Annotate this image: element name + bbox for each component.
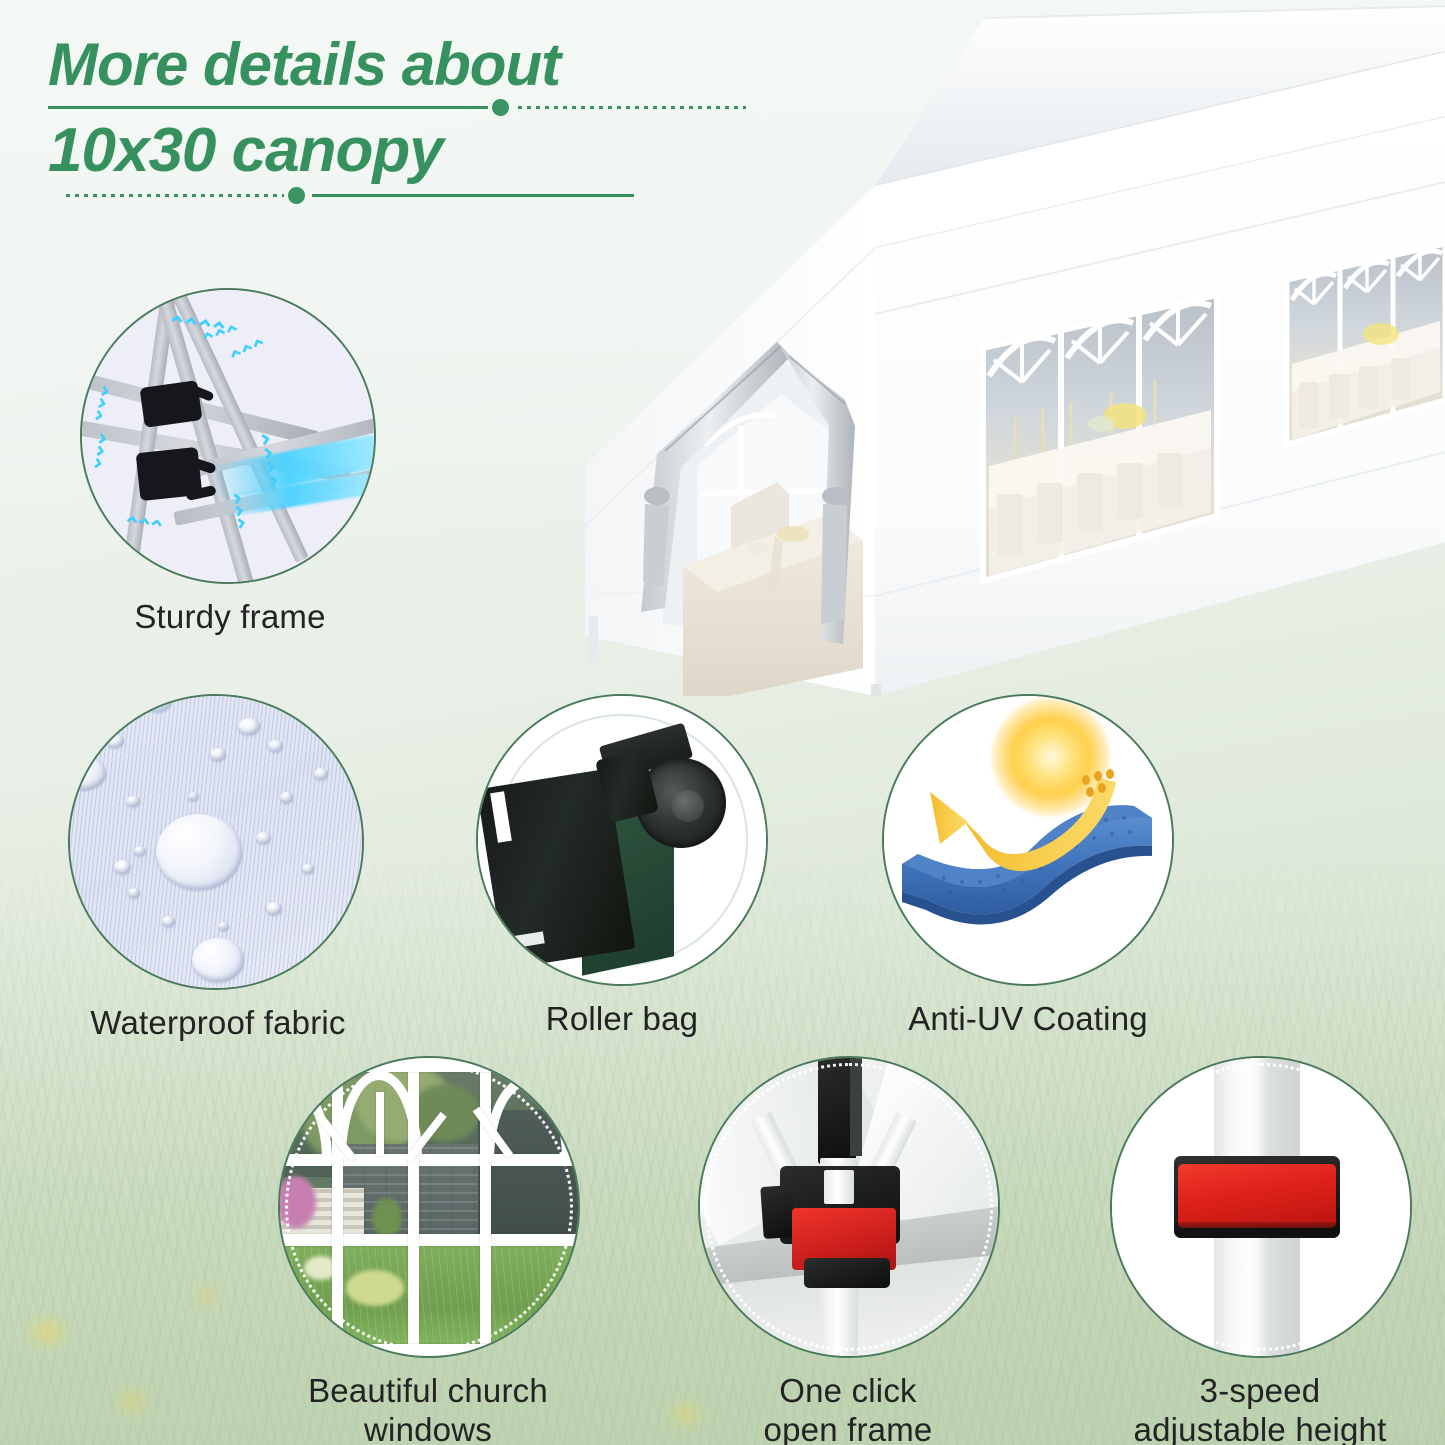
adjustable-height-label: 3-speed adjustable height — [1110, 1372, 1410, 1445]
church-windows-label: Beautiful church windows — [278, 1372, 578, 1445]
window-mullion-vertical — [332, 1058, 343, 1356]
water-droplet — [266, 902, 282, 915]
frame-bracket-base — [804, 1258, 890, 1288]
water-droplet — [210, 748, 226, 761]
church-windows-label-line-1: Beautiful church — [278, 1372, 578, 1411]
one-click-frame-label: One click open frame — [698, 1372, 998, 1445]
waterproof-fabric-art — [70, 696, 362, 988]
divider-dot — [288, 187, 305, 204]
church-windows-art — [280, 1058, 578, 1356]
anti-uv-label: Anti-UV Coating — [882, 1000, 1174, 1039]
height-adjust-collar-shadow — [1174, 1222, 1340, 1238]
church-windows-circle-image — [278, 1056, 580, 1358]
feature-roller-bag: Roller bag — [476, 694, 768, 1039]
adjustable-height-circle-image — [1110, 1056, 1412, 1358]
divider-dotted-segment — [66, 194, 284, 197]
frame-chevron-arrows: ⌃⌃⌃ — [80, 426, 111, 467]
sturdy-frame-circle-image: ⌃⌃⌃⌃ ⌃⌃⌃ ⌃⌃⌃ ⌃⌃⌃ ⌃⌃⌃ ⌃⌃⌃⌃ ⌃⌃⌃ ⌃⌃⌃ — [80, 288, 376, 584]
adjustable-height-art — [1112, 1058, 1410, 1356]
sturdy-frame-label: Sturdy frame — [80, 598, 380, 637]
background-dandelion — [672, 1404, 700, 1424]
background-dandelion — [30, 1320, 64, 1344]
water-droplet — [126, 796, 140, 807]
feature-3-speed-adjustable-height: 3-speed adjustable height — [1110, 1056, 1410, 1445]
canopy-tent-illustration — [545, 0, 1445, 696]
anti-uv-diagram — [884, 696, 1172, 984]
infographic-canvas: More details about 10x30 canopy — [0, 0, 1445, 1445]
frame-chevron-arrows: ⌃⌃⌃ — [217, 489, 249, 530]
water-droplet — [188, 792, 199, 801]
background-dandelion — [196, 1288, 218, 1304]
window-frame-bottom — [280, 1344, 578, 1356]
window-shrub — [372, 1198, 402, 1238]
roller-bag-art — [478, 696, 766, 984]
feature-anti-uv-coating: Anti-UV Coating — [882, 694, 1174, 1039]
water-droplet — [192, 938, 244, 982]
window-mullion-vertical — [480, 1058, 491, 1356]
water-droplet — [218, 922, 229, 931]
divider-dot — [492, 99, 509, 116]
feature-church-windows: Beautiful church windows — [278, 1056, 578, 1445]
feature-waterproof-fabric: Waterproof fabric — [68, 694, 368, 1043]
waterproof-fabric-circle-image — [68, 694, 364, 990]
hero-canopy-tent-image — [545, 0, 1445, 696]
roller-bag-circle-image — [476, 694, 768, 986]
background-dandelion — [120, 1392, 146, 1410]
window-mullion-horizontal — [280, 1234, 578, 1246]
church-windows-label-line-2: windows — [278, 1411, 578, 1445]
adjustable-height-label-line-2: adjustable height — [1110, 1411, 1410, 1445]
water-droplet — [302, 864, 314, 874]
window-tree — [410, 1084, 480, 1142]
anti-uv-circle-image — [882, 694, 1174, 986]
roller-bag-label: Roller bag — [476, 1000, 768, 1039]
window-frame-top — [280, 1058, 578, 1072]
window-arch-spoke — [376, 1092, 384, 1156]
water-droplet — [280, 792, 293, 803]
sturdy-frame-art: ⌃⌃⌃⌃ ⌃⌃⌃ ⌃⌃⌃ ⌃⌃⌃ ⌃⌃⌃ ⌃⌃⌃⌃ ⌃⌃⌃ ⌃⌃⌃ — [82, 290, 374, 582]
frame-chevron-arrows: ⌃⌃⌃ — [120, 512, 161, 543]
water-droplet — [238, 718, 260, 735]
one-click-frame-art — [700, 1058, 998, 1356]
height-adjust-collar-button[interactable] — [1178, 1164, 1336, 1228]
window-flowering-shrub — [346, 1270, 404, 1306]
feature-sturdy-frame: ⌃⌃⌃⌃ ⌃⌃⌃ ⌃⌃⌃ ⌃⌃⌃ ⌃⌃⌃ ⌃⌃⌃⌃ ⌃⌃⌃ ⌃⌃⌃ Sturdy… — [80, 288, 380, 637]
divider-solid-segment — [48, 106, 488, 109]
roller-bag-wheel-hub — [672, 790, 704, 822]
one-click-frame-label-line-2: open frame — [698, 1411, 998, 1445]
waterproof-fabric-label: Waterproof fabric — [68, 1004, 368, 1043]
water-droplet — [114, 860, 131, 874]
anti-uv-art — [884, 696, 1172, 984]
water-droplet — [106, 734, 124, 748]
water-droplet — [142, 694, 172, 712]
one-click-frame-label-line-1: One click — [698, 1372, 998, 1411]
water-droplet — [256, 832, 271, 844]
water-droplet — [314, 768, 328, 780]
feature-one-click-open-frame: One click open frame — [698, 1056, 998, 1445]
water-droplet — [156, 814, 242, 890]
adjustable-height-label-line-1: 3-speed — [1110, 1372, 1410, 1411]
frame-bracket-wing — [760, 1185, 796, 1239]
water-droplet — [268, 740, 283, 752]
water-droplet — [68, 756, 106, 790]
frame-slider-highlight — [850, 1056, 862, 1156]
frame-bracket-notch — [824, 1170, 854, 1204]
one-click-frame-circle-image — [698, 1056, 1000, 1358]
water-droplet — [162, 916, 175, 927]
water-droplet — [134, 846, 146, 856]
water-droplet — [128, 888, 140, 898]
